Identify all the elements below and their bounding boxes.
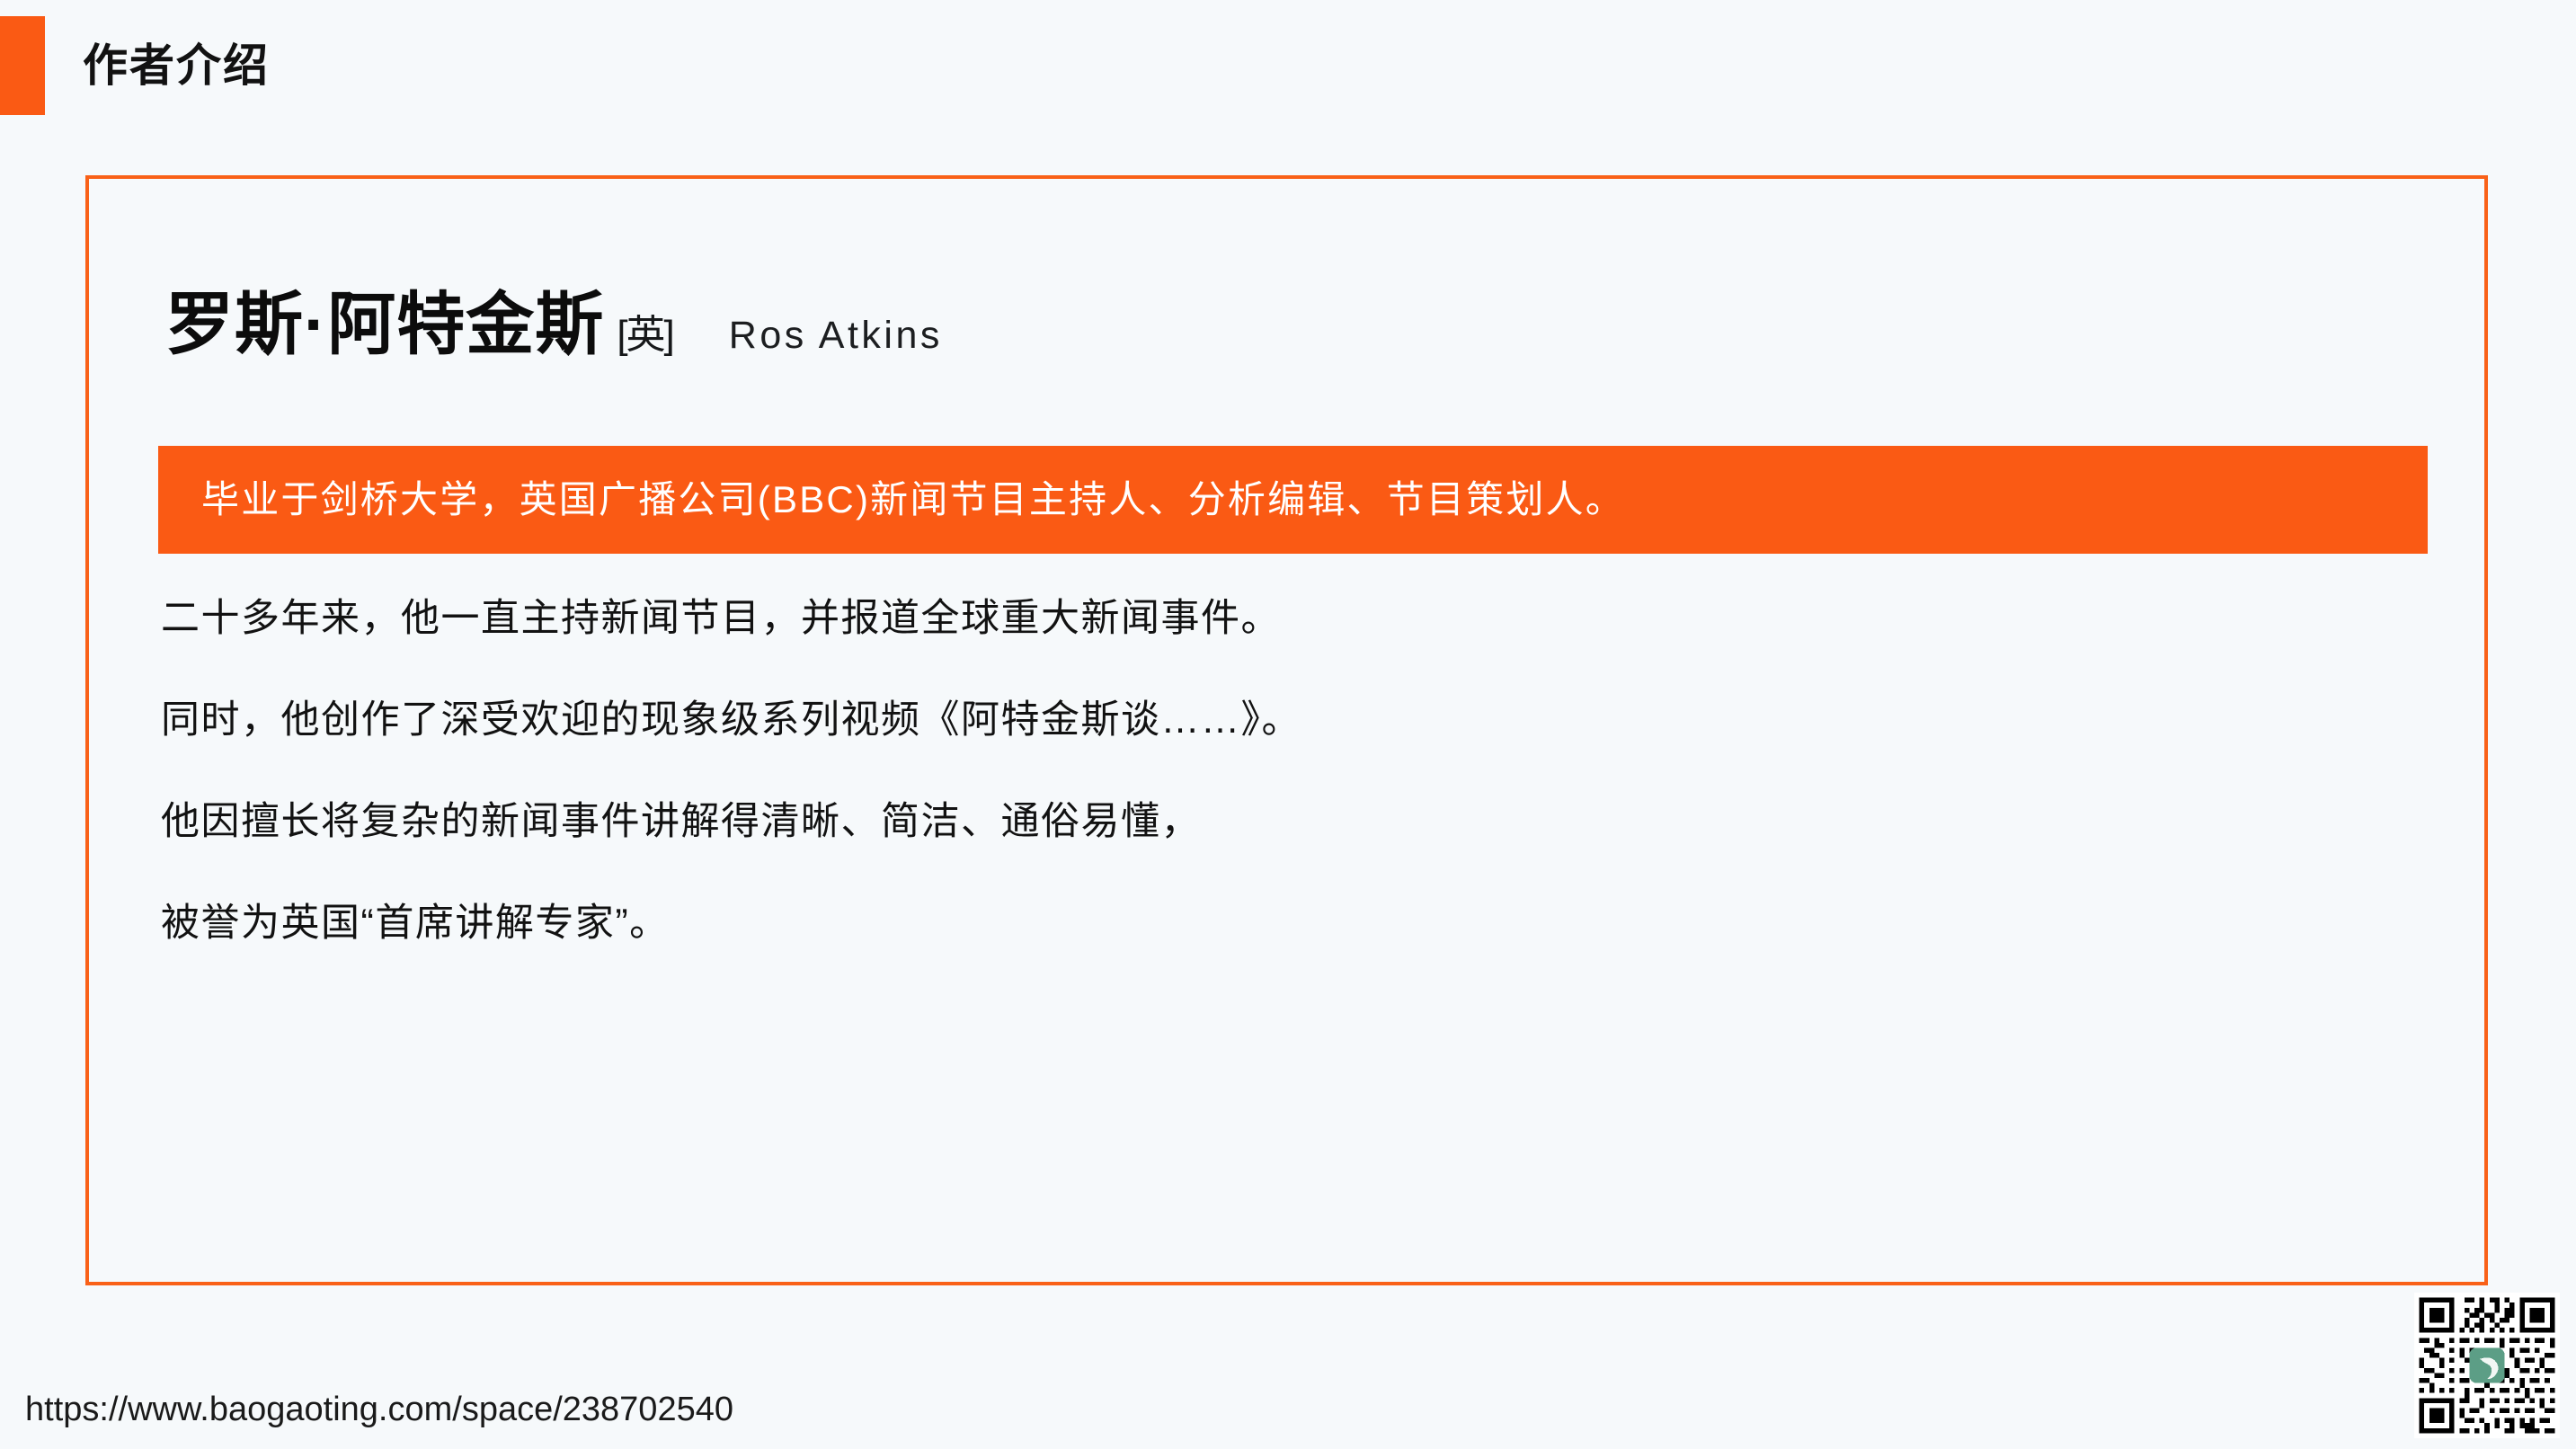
author-card: 罗斯·阿特金斯 [英] Ros Atkins 毕业于剑桥大学，英国广播公司(BB… (85, 175, 2488, 1285)
author-name-row: 罗斯·阿特金斯 [英] Ros Atkins (165, 291, 943, 360)
page-title: 作者介绍 (83, 43, 270, 88)
header-accent-bar (0, 16, 45, 115)
page-header: 作者介绍 (0, 16, 270, 115)
author-bio: 二十多年来，他一直主持新闻节目，并报道全球重大新闻事件。 同时，他创作了深受欢迎… (161, 600, 2390, 943)
author-name-chinese: 罗斯·阿特金斯 (165, 291, 604, 360)
bio-line: 二十多年来，他一直主持新闻节目，并报道全球重大新闻事件。 (161, 600, 2390, 638)
author-country-tag: [英] (617, 316, 672, 355)
author-highlight-band: 毕业于剑桥大学，英国广播公司(BBC)新闻节目主持人、分析编辑、节目策划人。 (158, 446, 2428, 554)
qr-code[interactable] (2414, 1293, 2560, 1438)
author-highlight-text: 毕业于剑桥大学，英国广播公司(BBC)新闻节目主持人、分析编辑、节目策划人。 (201, 481, 1625, 519)
bio-line: 他因擅长将复杂的新闻事件讲解得清晰、简洁、通俗易懂， (161, 803, 2390, 841)
bio-line: 同时，他创作了深受欢迎的现象级系列视频《阿特金斯谈……》。 (161, 701, 2390, 740)
qr-code-image (2414, 1293, 2560, 1438)
bio-line: 被誉为英国“首席讲解专家”。 (161, 904, 2390, 943)
author-name-english: Ros Atkins (729, 316, 943, 355)
qr-center-logo (2469, 1347, 2504, 1382)
footer-url[interactable]: https://www.baogaoting.com/space/2387025… (25, 1391, 733, 1429)
